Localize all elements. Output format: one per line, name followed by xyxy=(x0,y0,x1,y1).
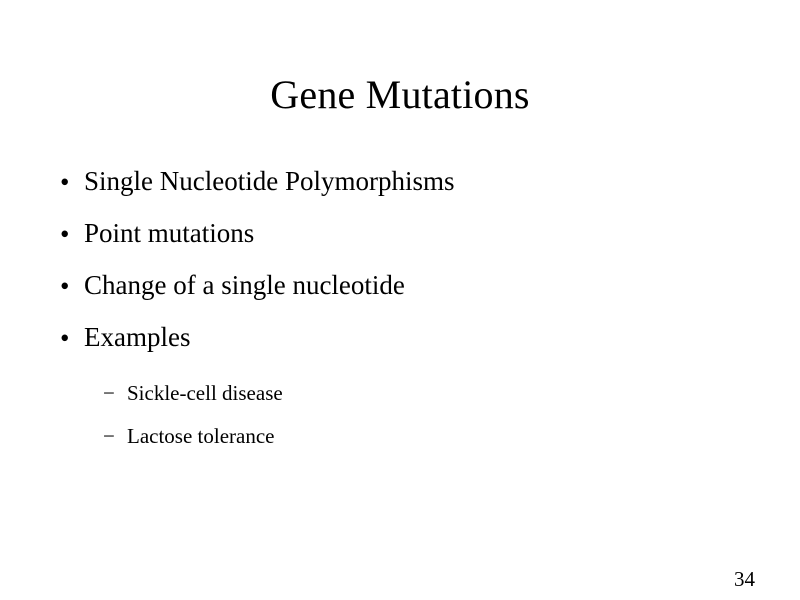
bullet-point-icon: • xyxy=(60,322,84,353)
list-item-label: Single Nucleotide Polymorphisms xyxy=(84,166,740,196)
slide-page-number: 34 xyxy=(734,567,755,591)
list-item: • Single Nucleotide Polymorphisms xyxy=(60,166,740,197)
list-item-label: Sickle-cell disease xyxy=(127,381,740,405)
list-item: − Lactose tolerance xyxy=(103,424,740,448)
sub-bullet-list: − Sickle-cell disease − Lactose toleranc… xyxy=(103,381,740,448)
list-item: • Examples xyxy=(60,322,740,353)
bullet-point-icon: • xyxy=(60,270,84,301)
list-item-label: Point mutations xyxy=(84,218,740,248)
list-item: − Sickle-cell disease xyxy=(103,381,740,405)
dash-bullet-icon: − xyxy=(103,424,127,448)
page-title: Gene Mutations xyxy=(0,72,800,118)
presentation-slide: Gene Mutations • Single Nucleotide Polym… xyxy=(0,0,800,600)
list-item-label: Lactose tolerance xyxy=(127,424,740,448)
list-item-label: Change of a single nucleotide xyxy=(84,270,740,300)
bullet-list: • Single Nucleotide Polymorphisms • Poin… xyxy=(60,166,740,448)
list-item: • Change of a single nucleotide xyxy=(60,270,740,301)
list-item-label: Examples xyxy=(84,322,740,352)
list-item: • Point mutations xyxy=(60,218,740,249)
dash-bullet-icon: − xyxy=(103,381,127,405)
bullet-point-icon: • xyxy=(60,166,84,197)
bullet-point-icon: • xyxy=(60,218,84,249)
